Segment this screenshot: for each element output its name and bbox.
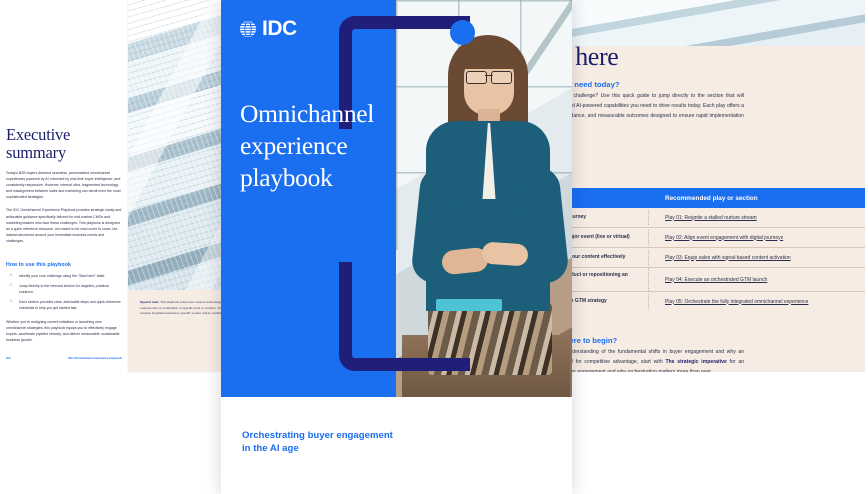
cell-play[interactable]: Play 01: Reignite a stalled nurture stre… bbox=[649, 210, 865, 226]
cover-bracket-bottom-decoration bbox=[339, 262, 470, 371]
bullet-number-icon: 01 bbox=[9, 273, 13, 279]
play-link[interactable]: Play 01: Reignite a stalled nurture stre… bbox=[665, 215, 757, 221]
cover-tagline-line2: in the AI age bbox=[242, 443, 472, 456]
page-footer: IDC IDC Omnichannel experience playbook bbox=[6, 356, 122, 360]
cover-title-line3: playbook bbox=[240, 162, 450, 194]
bullet-number-icon: 03 bbox=[9, 299, 13, 305]
exec-title-line1: Executive bbox=[6, 126, 122, 144]
cover-tagline-line1: Orchestrating buyer engagement bbox=[242, 430, 472, 443]
exec-closing-paragraph: Whether you're realigning current initia… bbox=[6, 319, 122, 343]
page-title: Executive summary bbox=[6, 126, 122, 163]
begin-text-bold: The strategic imperative bbox=[665, 359, 726, 365]
cell-play[interactable]: Play 04: Execute an orchestrated GTM lau… bbox=[649, 272, 865, 288]
list-item: 03Each section provides clear, actionabl… bbox=[6, 299, 122, 311]
idc-globe-icon bbox=[239, 20, 257, 38]
footer-title: IDC Omnichannel experience playbook bbox=[69, 356, 123, 360]
exec-paragraph-2: The IDC Omnichannel Experience Playbook … bbox=[6, 207, 122, 244]
cover-title-line2: experience bbox=[240, 130, 450, 162]
how-to-heading: How to use this playbook bbox=[6, 262, 122, 268]
cell-play[interactable]: Play 02: Align event engagement with dig… bbox=[649, 230, 865, 246]
cover-circle-decoration bbox=[450, 20, 475, 45]
cover-tagline: Orchestrating buyer engagement in the AI… bbox=[242, 430, 472, 456]
cover-title-line1: Omnichannel bbox=[240, 98, 450, 130]
idc-wordmark: IDC bbox=[262, 18, 297, 39]
page-cover[interactable]: IDC Omnichannel experience playbook Orch… bbox=[221, 0, 572, 494]
play-link[interactable]: Play 03: Equip sales with signal-based c… bbox=[665, 255, 791, 261]
list-item: 02Jump directly to the relevant section … bbox=[6, 283, 122, 295]
list-item-label: Each section provides clear, actionable … bbox=[19, 300, 121, 310]
cover-title: Omnichannel experience playbook bbox=[240, 98, 450, 194]
play-link[interactable]: Play 04: Execute an orchestrated GTM lau… bbox=[665, 277, 767, 283]
footer-brand: IDC bbox=[6, 357, 11, 360]
exec-paragraph-1: Today's B2B buyers demand seamless, pers… bbox=[6, 170, 122, 200]
list-item-label: Identify your core challenge using the "… bbox=[19, 274, 105, 278]
column-header-play: Recommended play or section bbox=[649, 195, 865, 202]
cell-play[interactable]: Play 03: Equip sales with signal-based c… bbox=[649, 250, 865, 266]
play-link[interactable]: Play 02: Align event engagement with dig… bbox=[665, 235, 783, 241]
woman-hand-right bbox=[481, 241, 528, 266]
list-item: 01Identify your core challenge using the… bbox=[6, 273, 122, 279]
how-to-list: 01Identify your core challenge using the… bbox=[6, 273, 122, 312]
list-item-label: Jump directly to the relevant section fo… bbox=[19, 284, 109, 294]
idc-logo[interactable]: IDC bbox=[239, 18, 297, 39]
bullet-number-icon: 02 bbox=[9, 283, 13, 289]
play-link[interactable]: Play 05: Orchestrate the fully integrate… bbox=[665, 299, 808, 305]
page-executive-summary[interactable]: Executive summary Today's B2B buyers dem… bbox=[0, 0, 128, 372]
cell-play[interactable]: Play 05: Orchestrate the fully integrate… bbox=[649, 294, 865, 310]
exec-title-line2: summary bbox=[6, 144, 122, 162]
glasses-lens-right bbox=[491, 71, 512, 84]
cover-blue-panel: IDC Omnichannel experience playbook bbox=[221, 0, 572, 397]
special-note-lead: Special note: bbox=[140, 300, 159, 304]
exec-content: Executive summary Today's B2B buyers dem… bbox=[6, 126, 122, 343]
screenshot-canvas: Executive summary Today's B2B buyers dem… bbox=[0, 0, 868, 494]
glasses-icon bbox=[466, 71, 512, 82]
